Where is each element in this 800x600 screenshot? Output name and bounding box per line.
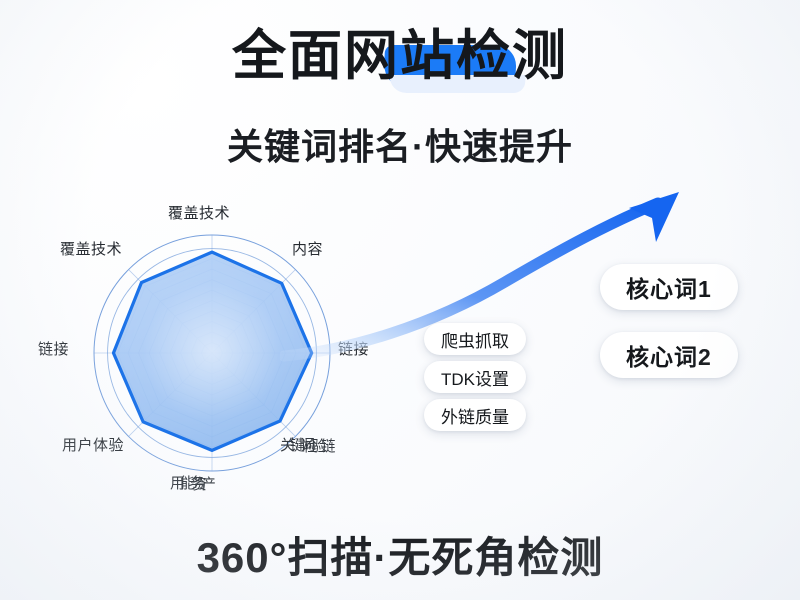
radar-label-top: 覆盖技术 [168, 202, 230, 223]
radar-label-bottom: 用能务资产 [170, 472, 220, 493]
tag-pill-backlink[interactable]: 外链质量 [424, 399, 526, 431]
radar-label-bottom-right: 关键词检验链 [280, 434, 340, 455]
title-segment-before: 全面 [232, 26, 344, 86]
radar-label-right: 链接 [338, 338, 369, 359]
radar-label-bottom-right-overlap: 检验链 [303, 435, 331, 456]
title-segment-after: 检测 [456, 26, 568, 86]
keyword-pill-1-label: 核心词1 [626, 270, 712, 304]
radar-label-left: 链接 [38, 338, 69, 359]
keyword-pill-2-label: 核心词2 [626, 338, 712, 372]
keyword-pill-1[interactable]: 核心词1 [600, 264, 738, 310]
subheadline-container: 关键词排名·快速提升 [0, 118, 800, 170]
radar-label-top-right: 内容 [292, 238, 323, 259]
tag-pill-crawl[interactable]: 爬虫抓取 [424, 323, 526, 355]
tag-pill-tdk-label: TDK设置 [441, 365, 509, 390]
page-title: 全面网站检测 [232, 28, 568, 85]
footer-tagline: 360°扫描·无死角检测 [197, 524, 604, 585]
subheadline: 关键词排名·快速提升 [227, 118, 573, 170]
keyword-pill-2[interactable]: 核心词2 [600, 332, 738, 378]
tag-pill-backlink-label: 外链质量 [441, 403, 509, 428]
tag-pill-crawl-label: 爬虫抓取 [441, 327, 509, 352]
footer-container: 360°扫描·无死角检测 [0, 524, 800, 585]
tag-pill-tdk[interactable]: TDK设置 [424, 361, 526, 393]
poster-canvas: 全面网站检测 关键词排名·快速提升 覆盖技术 内容 [0, 0, 800, 600]
radar-label-bottom-left: 用户体验 [62, 434, 124, 455]
radar-label-top-left: 覆盖技术 [60, 238, 122, 259]
radar-label-bottom-overlap: 资产 [193, 473, 211, 494]
radar-chart: 覆盖技术 内容 链接 关键词检验链 用能务资产 用户体验 链接 覆盖技术 [30, 190, 430, 520]
headline-container: 全面网站检测 [0, 28, 800, 85]
title-segment-highlight: 网站 [344, 26, 456, 86]
